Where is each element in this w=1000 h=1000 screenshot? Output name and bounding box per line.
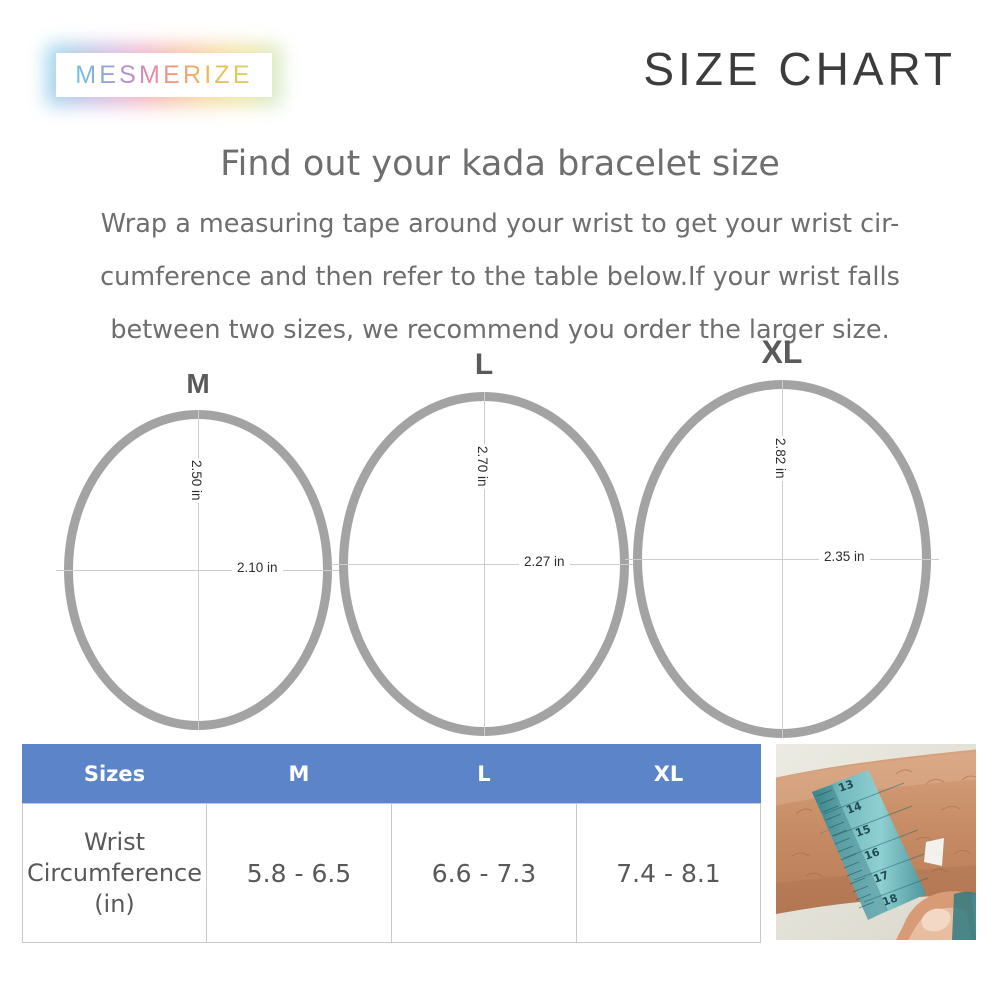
oval-axis-horizontal-l [331,564,637,565]
table-header-xl: XL [577,745,761,804]
cell-wrist-xl: 7.4 - 8.1 [577,804,761,943]
oval-height-label-xl: 2.82 in [772,436,789,481]
table-header-l: L [392,745,577,804]
oval-unit-m: M 2.50 in 2.10 in [64,410,332,730]
oval-diagram-group: M 2.50 in 2.10 in L 2.70 in 2.27 in XL 2… [0,340,1000,740]
oval-height-label-l: 2.70 in [474,444,491,489]
table-row: Wrist Circumference (in) 5.8 - 6.5 6.6 -… [23,804,761,943]
oval-width-label-xl: 2.35 in [819,549,870,564]
cell-wrist-l: 6.6 - 7.3 [392,804,577,943]
headline: Find out your kada bracelet size [0,144,1000,184]
size-table: Sizes M L XL Wrist Circumference (in) 5.… [22,744,761,943]
row-label-line-1: Wrist [24,827,205,858]
oval-unit-l: L 2.70 in 2.27 in [339,392,629,736]
row-label-wrist-circumference: Wrist Circumference (in) [23,804,207,943]
wrist-photo-illustration: 13 14 15 16 17 18 [776,744,976,940]
row-label-line-2: Circumference [24,858,205,889]
logo-wordmark: MESMERIZE [75,61,252,90]
table-header-m: M [207,745,392,804]
logo-plate: MESMERIZE [56,53,272,97]
oval-label-m: M [168,368,228,400]
oval-height-label-m: 2.50 in [188,458,205,503]
oval-unit-xl: XL 2.82 in 2.35 in [633,380,931,738]
row-label-line-3: (in) [24,889,205,920]
intro-line-2: cumference and then refer to the table b… [50,251,950,304]
oval-axis-horizontal-xl [625,559,939,560]
oval-width-label-l: 2.27 in [519,554,570,569]
page-title: SIZE CHART [643,42,956,96]
oval-axis-horizontal-m [56,570,340,571]
table-header-row: Sizes M L XL [23,745,761,804]
oval-label-l: L [454,348,514,382]
cell-wrist-m: 5.8 - 6.5 [207,804,392,943]
intro-line-1: Wrap a measuring tape around your wrist … [50,198,950,251]
oval-width-label-m: 2.10 in [232,560,283,575]
oval-label-xl: XL [742,334,822,371]
table-header-sizes: Sizes [23,745,207,804]
brand-logo: MESMERIZE [46,44,282,106]
wrist-measurement-photo: 13 14 15 16 17 18 [776,744,976,940]
